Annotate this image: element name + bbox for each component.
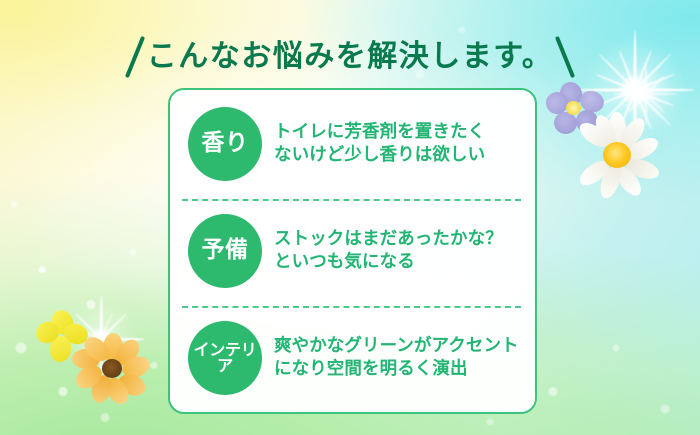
badge-yobi: 予備 — [188, 214, 262, 288]
slash-right-decoration — [555, 36, 575, 78]
concern-text-yobi-line1: ストックはまだあったかな？ — [274, 228, 503, 251]
badge-interior: インテリア — [188, 321, 262, 395]
concern-row-kaori: 香り トイレに芳香剤を置きたく ないけど少し香りは欲しい — [182, 92, 523, 196]
concern-row-yobi: 予備 ストックはまだあったかな？ といつも気になる — [182, 199, 523, 303]
concern-text-kaori: トイレに芳香剤を置きたく ないけど少し香りは欲しい — [274, 121, 485, 167]
concern-text-kaori-line2: ないけど少し香りは欲しい — [274, 144, 485, 167]
slash-left-decoration — [125, 36, 145, 78]
concern-text-kaori-line1: トイレに芳香剤を置きたく — [274, 121, 485, 144]
concern-text-yobi: ストックはまだあったかな？ といつも気になる — [274, 228, 503, 274]
concern-text-interior: 爽やかなグリーンがアクセント になり空間を明るく演出 — [274, 335, 519, 381]
badge-kaori: 香り — [188, 107, 262, 181]
concern-text-interior-line2: になり空間を明るく演出 — [274, 358, 519, 381]
concern-text-yobi-line2: といつも気になる — [274, 251, 503, 274]
page-title: こんなお悩みを解決します。 — [0, 30, 700, 84]
concern-row-interior: インテリア 爽やかなグリーンがアクセント になり空間を明るく演出 — [182, 306, 523, 410]
banner-image: こんなお悩みを解決します。 香り トイレに芳香剤を置きたく ないけど少し香りは欲… — [0, 0, 700, 435]
concern-text-interior-line1: 爽やかなグリーンがアクセント — [274, 335, 519, 358]
page-title-text: こんなお悩みを解決します。 — [147, 42, 554, 72]
concerns-card: 香り トイレに芳香剤を置きたく ないけど少し香りは欲しい 予備 ストックはまだあ… — [168, 88, 537, 414]
